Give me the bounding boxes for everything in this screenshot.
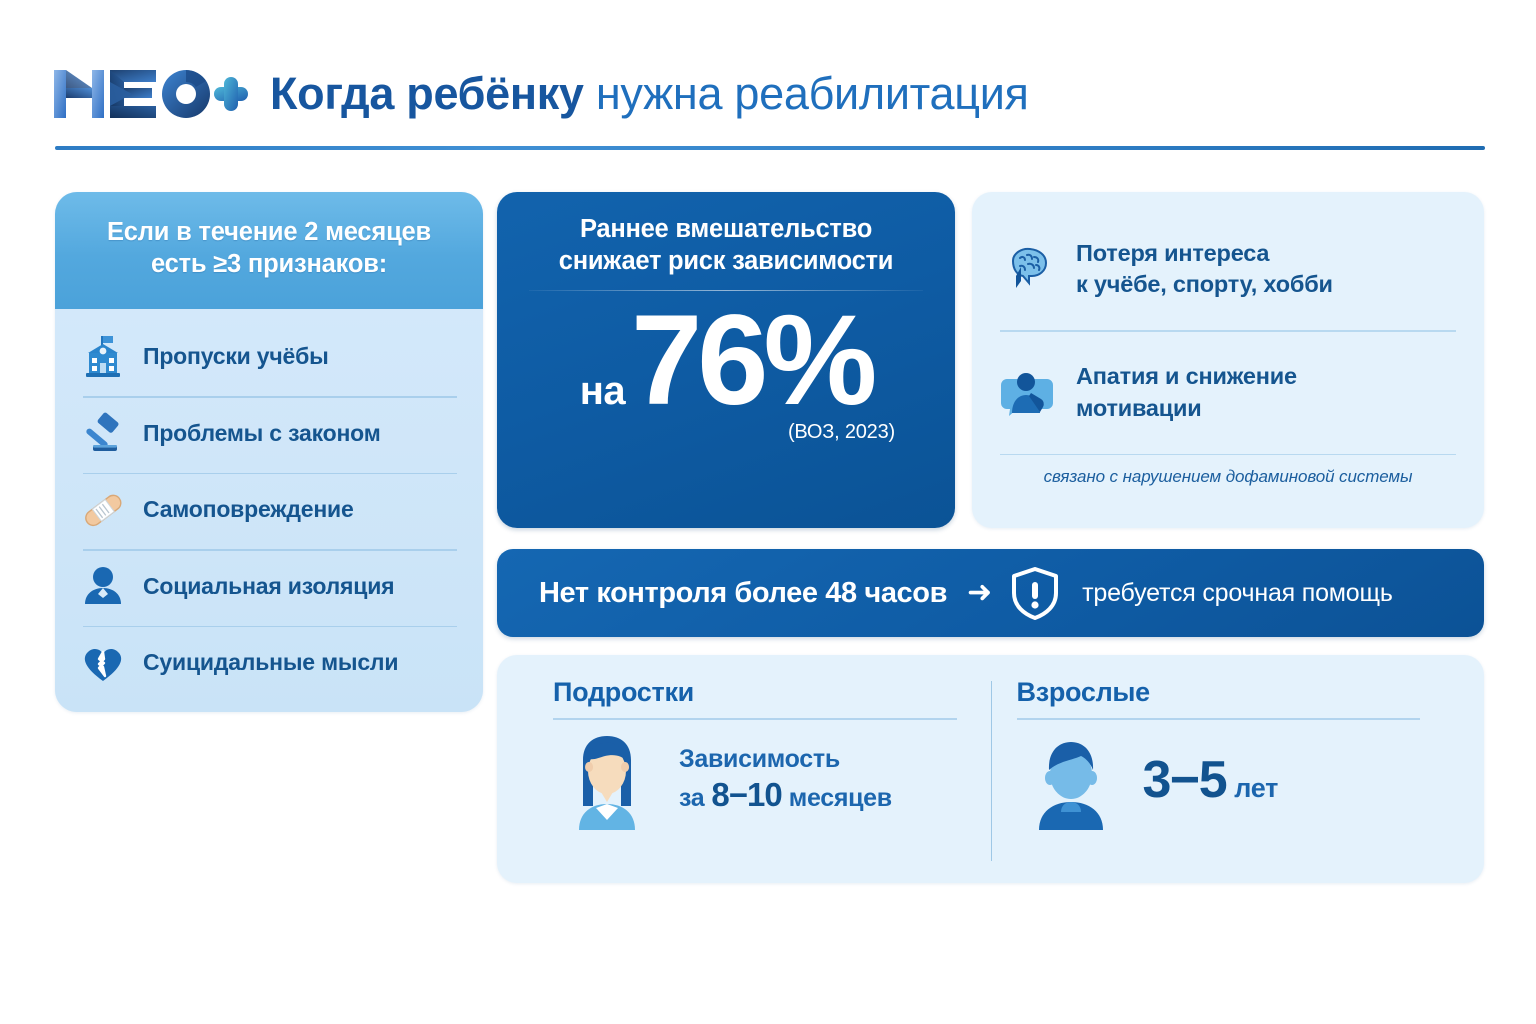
school-icon [77, 331, 129, 383]
symptom-line1: Апатия и снижение [1076, 363, 1297, 389]
arrow-right-icon: ➜ [967, 578, 992, 608]
compare-column-teens: Подростки Зависимость [527, 677, 991, 865]
infographic-page: Когда ребёнку нужна реабилитация Если в … [0, 0, 1536, 1024]
stat-prefix: на [580, 369, 625, 414]
person-icon [77, 560, 129, 612]
criteria-panel-header: Если в течение 2 месяцев есть ≥3 признак… [55, 192, 483, 309]
symptom-item-apathy[interactable]: Апатия и снижение мотивации [998, 332, 1458, 454]
compare-title: Подростки [553, 677, 965, 708]
symptoms-card: Потеря интереса к учёбе, спорту, хобби А… [972, 192, 1484, 528]
symptom-text: Потеря интереса к учёбе, спорту, хобби [1076, 238, 1333, 300]
list-item[interactable]: Суицидальные мысли [55, 626, 483, 700]
compare-number: 8−10 [711, 776, 781, 814]
apathy-person-icon [1000, 364, 1058, 422]
compare-body: 3−5 лет [1017, 726, 1429, 834]
adult-man-avatar [1017, 726, 1125, 834]
list-item[interactable]: Социальная изоляция [55, 549, 483, 623]
compare-column-adults: Взрослые 3−5 лет [991, 677, 1455, 865]
broken-heart-icon [77, 637, 129, 689]
page-title: Когда ребёнку нужна реабилитация [270, 71, 1029, 118]
compare-line1: Зависимость [679, 745, 892, 774]
page-header: Когда ребёнку нужна реабилитация [52, 44, 1484, 144]
symptom-line2: к учёбе, спорту, хобби [1076, 271, 1333, 297]
teen-girl-avatar [553, 726, 661, 834]
stat-heading-line2: снижает риск зависимости [523, 246, 929, 278]
compare-suffix: месяцев [789, 784, 892, 813]
compare-text: Зависимость за 8−10 месяцев [679, 745, 892, 814]
compare-suffix: лет [1234, 773, 1278, 804]
criteria-panel: Если в течение 2 месяцев есть ≥3 признак… [55, 192, 483, 712]
gavel-icon [77, 407, 129, 459]
alert-regular-text: требуется срочная помощь [1082, 579, 1393, 608]
compare-title-underline [1017, 718, 1421, 720]
compare-card: Подростки Зависимость [497, 655, 1484, 883]
list-item[interactable]: Пропуски учёбы [55, 320, 483, 394]
list-item[interactable]: Проблемы с законом [55, 396, 483, 470]
stat-value-row: на 76% [523, 297, 929, 425]
alert-banner[interactable]: Нет контроля более 48 часов ➜ требуется … [497, 549, 1484, 637]
compare-text: 3−5 лет [1143, 750, 1279, 810]
stat-value: 76% [631, 297, 872, 425]
compare-title-underline [553, 718, 957, 720]
alert-bold-text: Нет контроля более 48 часов [539, 577, 947, 610]
list-item-label: Суицидальные мысли [143, 649, 398, 676]
brain-icon [1000, 240, 1058, 298]
shield-alert-icon [1008, 566, 1062, 620]
list-item-label: Самоповреждение [143, 496, 354, 523]
criteria-heading-line2: есть ≥3 признаков: [151, 249, 387, 280]
compare-title: Взрослые [1017, 677, 1429, 708]
criteria-list: Пропуски учёбы Проблемы с законом [55, 309, 483, 712]
page-title-regular: нужна реабилитация [584, 68, 1029, 119]
symptom-line2: мотивации [1076, 395, 1202, 421]
symptom-line1: Потеря интереса [1076, 240, 1269, 266]
symptom-item-interest-loss[interactable]: Потеря интереса к учёбе, спорту, хобби [998, 208, 1458, 330]
criteria-heading-line1: Если в течение 2 месяцев [107, 217, 431, 248]
page-title-bold: Когда ребёнку [270, 68, 584, 119]
compare-body: Зависимость за 8−10 месяцев [553, 726, 965, 834]
compare-number: 3−5 [1143, 750, 1227, 810]
list-item-label: Проблемы с законом [143, 420, 381, 447]
stat-heading-line1: Раннее вмешательство [523, 214, 929, 246]
compare-prefix: за [679, 784, 704, 813]
neo-plus-logo [52, 64, 248, 124]
list-item[interactable]: Самоповреждение [55, 473, 483, 547]
compare-line2: за 8−10 месяцев [679, 776, 892, 814]
bandage-icon [77, 484, 129, 536]
header-divider [55, 146, 1485, 150]
symptom-text: Апатия и снижение мотивации [1076, 361, 1297, 423]
symptoms-note: связано с нарушением дофаминовой системы [998, 455, 1458, 491]
list-item-label: Пропуски учёбы [143, 343, 329, 370]
stat-card: Раннее вмешательство снижает риск зависи… [497, 192, 955, 528]
list-item-label: Социальная изоляция [143, 573, 394, 600]
